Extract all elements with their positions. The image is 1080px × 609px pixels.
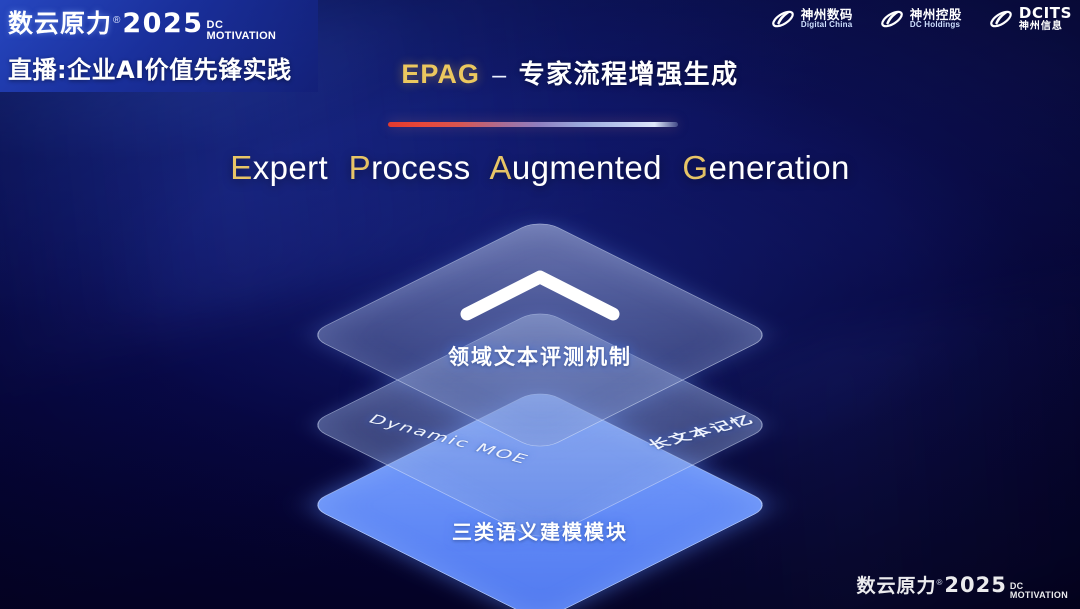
chevron-up-icon xyxy=(455,266,625,324)
registered-mark: ® xyxy=(113,15,120,26)
layer-label-top: 领域文本评测机制 xyxy=(448,341,632,371)
partner-text: DCITS 神州信息 xyxy=(1019,6,1072,32)
headline-dash: – xyxy=(492,61,506,89)
swoosh-icon xyxy=(879,6,905,32)
swoosh-icon xyxy=(988,6,1014,32)
partner-name-cn: DCITS xyxy=(1019,6,1072,22)
layer-stack-diagram: 领域文本评测机制 Dynamic MOE 长文本记忆 三类语义建模模块 xyxy=(280,228,800,558)
subtitle-word-rest: xpert xyxy=(253,149,328,186)
partner-name-en: Digital China xyxy=(801,21,853,29)
subtitle-word-initial: A xyxy=(489,149,511,186)
subtitle-word-rest: rocess xyxy=(371,149,471,186)
partner-text: 神州控股 DC Holdings xyxy=(910,8,962,30)
brand-logo: 数云原力 ® 2025 DC MOTIVATION xyxy=(8,4,276,46)
subtitle-word-initial: E xyxy=(230,149,252,186)
watermark-year: 2025 xyxy=(944,573,1006,597)
layer-label-bottom: 三类语义建模模块 xyxy=(452,516,628,545)
partner-name-en: 神州信息 xyxy=(1019,22,1072,33)
live-title: 直播:企业AI价值先锋实践 xyxy=(8,50,292,85)
watermark-dc-motivation: DC MOTIVATION xyxy=(1010,582,1068,600)
gradient-divider xyxy=(388,122,678,127)
watermark-registered-mark: ® xyxy=(936,578,942,587)
watermark-name-cn: 数云原力 xyxy=(856,571,936,598)
subtitle-word-rest: ugmented xyxy=(512,149,662,186)
partner-logo-group: 神州数码 Digital China 神州控股 DC Holdings DCIT… xyxy=(770,6,1072,32)
partner-text: 神州数码 Digital China xyxy=(801,8,853,30)
headline-acronym: EPAG xyxy=(401,59,480,89)
brand-dc-line2: MOTIVATION xyxy=(207,31,276,42)
partner-name-en: DC Holdings xyxy=(910,21,962,29)
slide-canvas: 数云原力 ® 2025 DC MOTIVATION 直播:企业AI价值先锋实践 … xyxy=(0,0,1080,609)
subtitle-word-rest: eneration xyxy=(709,149,850,186)
watermark-dc-line2: MOTIVATION xyxy=(1010,591,1068,600)
brand-year: 2025 xyxy=(122,8,203,39)
watermark-logo: 数云原力 ® 2025 DC MOTIVATION xyxy=(856,571,1068,603)
partner-logo-digital-china: 神州数码 Digital China xyxy=(770,6,853,32)
brand-name-cn: 数云原力 xyxy=(8,4,112,40)
partner-logo-dc-holdings: 神州控股 DC Holdings xyxy=(879,6,962,32)
partner-logo-dcits: DCITS 神州信息 xyxy=(988,6,1072,32)
headline-title-cn: 专家流程增强生成 xyxy=(519,60,739,90)
subtitle-word-initial: P xyxy=(349,149,371,186)
brand-dc-motivation: DC MOTIVATION xyxy=(207,20,276,42)
subtitle: Expert Process Augmented Generation xyxy=(0,149,1080,187)
subtitle-word-initial: G xyxy=(682,149,708,186)
swoosh-icon xyxy=(770,6,796,32)
